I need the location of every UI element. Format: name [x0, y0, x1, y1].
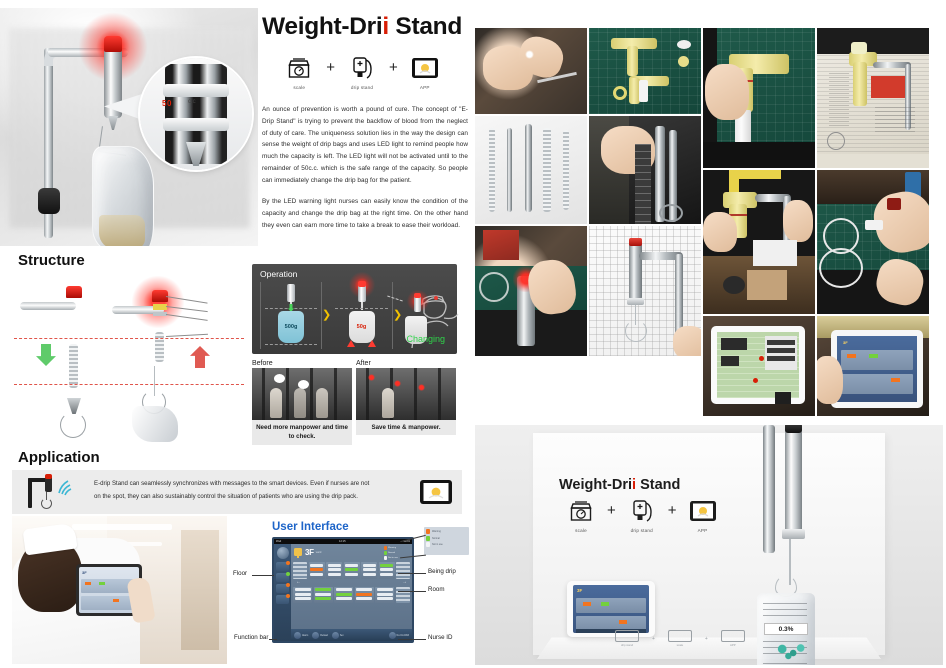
callout-legend-2: Not in use	[432, 543, 443, 546]
scale-icon-glyph	[569, 500, 593, 522]
before-photo	[252, 368, 352, 420]
scale-icon-glyph	[287, 57, 311, 79]
function-set[interactable]: Set	[332, 632, 344, 639]
structure-left-hook	[60, 412, 86, 438]
op3-led	[414, 293, 421, 298]
structure-pcb	[153, 304, 167, 310]
photo-title-prefix: Weight-Dri	[559, 477, 632, 493]
anno-function-bar: Function bar	[234, 634, 268, 641]
structure-left-spring	[69, 344, 78, 388]
photo-yellow-parts-cutmat	[589, 28, 701, 114]
function-reload[interactable]: Reload	[312, 632, 328, 639]
prototype-photo-grid: 3F	[475, 28, 943, 420]
room-card[interactable]	[361, 562, 377, 579]
photo-foot-icon-row: drip stand + scale + APP	[615, 630, 745, 647]
drip-bag-icon	[293, 547, 303, 558]
photo-weight-device	[785, 425, 802, 535]
drip-stand-icon-caption: drip stand	[342, 85, 382, 90]
before-after-section: Before Need more manpower and time to ch…	[252, 360, 457, 446]
after-photo	[356, 368, 456, 420]
ui-mockup: iPad 12:15 100%	[272, 537, 414, 643]
ui-legend-label-2: Not in use	[388, 557, 398, 559]
led-cap	[104, 36, 122, 52]
before-column: Before Need more manpower and time to ch…	[252, 360, 352, 446]
wireless-device-icon	[12, 470, 90, 514]
ui-legend-label-1: Normal	[388, 552, 395, 554]
anno-nurse-id: Nurse ID	[428, 634, 452, 641]
photo-plus-2: +	[668, 497, 677, 525]
ui-legend-inline: Warning Normal Not in use	[384, 546, 410, 561]
anno-leader-beingdrip	[398, 573, 426, 574]
concept-icon-dripstand: drip stand	[342, 54, 382, 90]
sidebar-item-floor-3f[interactable]	[276, 562, 289, 571]
ui-content: 3F ward Warning Normal Not in use	[291, 544, 412, 641]
scale-icon	[561, 497, 601, 525]
op2-drip-bag: 50g	[349, 311, 375, 343]
op2-arrow-up-right	[368, 340, 376, 347]
app-icon-glyph	[411, 57, 439, 79]
application-heading: Application	[18, 449, 100, 466]
concept-icon-scale: scale	[279, 54, 319, 90]
title-prefix: Weight-Dri	[262, 13, 382, 40]
photo-scale-caption: scale	[561, 528, 601, 533]
device-band-upper	[163, 84, 229, 97]
callout-legend-0: Warning	[432, 530, 441, 533]
sidebar-item-floor-5f[interactable]	[276, 584, 289, 593]
ui-pager[interactable]: ← →	[293, 579, 410, 586]
app-icon-glyph	[689, 500, 717, 522]
concept-icon-app: APP	[405, 54, 445, 90]
foot-plus-2: +	[705, 636, 708, 642]
drip-stand-icon-glyph	[631, 499, 653, 523]
app-icon	[683, 497, 723, 525]
ui-arrow-left[interactable]: ←	[296, 580, 301, 585]
drip-bag	[92, 146, 154, 246]
drip-stand-icon-glyph	[351, 56, 373, 80]
ui-sidebar[interactable]	[274, 544, 291, 641]
room-card[interactable]	[344, 562, 360, 579]
operation-step-2: 50g	[331, 282, 393, 349]
operation-heading: Operation	[260, 269, 297, 279]
nurse-id-value: No.01-0063	[397, 634, 410, 637]
anno-floor: Floor	[233, 570, 247, 577]
anno-leader-room	[398, 591, 426, 592]
nurse-id-badge[interactable]: No.01-0063	[389, 632, 410, 639]
ui-status-center: 12:15	[339, 540, 346, 543]
scale-icon	[279, 54, 319, 82]
foot-icon-dripstand: drip stand	[615, 630, 639, 647]
photo-nurse-with-tablet: 3F	[12, 516, 227, 664]
scale-icon-caption: scale	[279, 85, 319, 90]
photo-circuit-board-case	[703, 316, 815, 416]
room-card[interactable]	[293, 587, 312, 604]
op1-dashline-lower	[265, 344, 317, 345]
operation-steps: 500g ❯ 50g ❯	[260, 282, 451, 349]
pole-clamp	[38, 188, 60, 214]
ui-row-label-3	[396, 587, 410, 604]
title-block: Weight-Drii Stand scale +	[262, 14, 468, 240]
room-card[interactable]	[309, 562, 325, 579]
structure-switch	[153, 312, 167, 316]
poster-board: 50 c.c Weight-Drii Stand	[0, 0, 946, 668]
title-suffix: Stand	[389, 13, 462, 40]
photo-green-beads	[769, 641, 813, 661]
operation-step-3: Changing	[402, 282, 451, 349]
body-copy: An ounce of prevention is worth a pound …	[262, 104, 468, 231]
drip-stand-icon	[342, 54, 382, 82]
photo-prototype-on-newspaper	[817, 28, 929, 168]
anno-leader-function	[269, 639, 277, 640]
scale-marker-value: 50	[162, 99, 172, 108]
anno-being-drip: Being drip	[428, 568, 456, 575]
room-card[interactable]	[355, 587, 374, 604]
structure-drip-bag	[132, 406, 178, 442]
anno-leader-nurseid	[398, 639, 426, 640]
photo-scale-icon-item: scale	[561, 497, 601, 533]
application-banner: E-drip Stand can seamlessly synchronizes…	[12, 470, 462, 514]
drip-bag-fluid	[99, 215, 145, 246]
after-label: After	[356, 360, 456, 367]
avatar[interactable]	[277, 547, 289, 559]
sidebar-item-floor-4f[interactable]	[276, 573, 289, 582]
ui-status-left: iPad	[276, 540, 281, 543]
concept-icon-row: scale + drip stand +	[256, 54, 468, 90]
arrow-up-red	[190, 346, 210, 368]
before-label: Before	[252, 360, 352, 367]
photo-dripstand-icon-item: drip stand	[622, 497, 662, 533]
plus-sign-2: +	[389, 54, 398, 82]
op2-dashline	[335, 308, 388, 309]
photo-device-nut	[782, 529, 805, 539]
photo-tablet-app-in-hands: 3F	[817, 316, 929, 416]
left-column: 50 c.c Weight-Drii Stand	[0, 0, 470, 668]
operation-panel: Operation 500g ❯ 50g	[252, 264, 457, 354]
application-line-1: E-drip Stand can seamlessly synchronizes…	[94, 479, 400, 489]
after-column: After Save time & manpower.	[356, 360, 456, 446]
photo-plus-1: +	[607, 497, 616, 525]
room-card[interactable]	[375, 587, 394, 604]
photo-icon-row: scale + drip stand +	[561, 497, 723, 533]
photo-app-icon-item: APP	[683, 497, 723, 533]
sidebar-item-emergency[interactable]	[276, 595, 289, 604]
photo-measuring-tubes	[589, 116, 701, 224]
before-caption: Need more manpower and time to check.	[252, 420, 352, 445]
scale-marker-unit: c.c	[188, 99, 196, 105]
structure-heading: Structure	[18, 252, 85, 269]
user-interface-heading: User Interface	[272, 521, 349, 533]
structure-left-cap	[66, 286, 82, 298]
photo-dripstand-caption: drip stand	[622, 528, 662, 533]
ui-row-label-1	[293, 562, 307, 579]
page-title: Weight-Drii Stand	[262, 14, 468, 41]
photo-stand-pole	[763, 425, 775, 553]
app-icon-caption: APP	[405, 85, 445, 90]
structure-diagram: LED PCB Switch Spring	[14, 274, 244, 442]
photo-title: Weight-Drii Stand	[559, 477, 680, 493]
room-card[interactable]	[326, 562, 342, 579]
photo-device-cap	[785, 425, 802, 433]
room-card[interactable]	[379, 562, 395, 579]
structure-dashline-lower	[14, 384, 244, 385]
photo-springs-lineup	[475, 116, 587, 224]
operation-step-1: 500g	[260, 282, 322, 349]
plus-sign-1: +	[326, 54, 335, 82]
op1-device	[287, 284, 295, 302]
ui-room-row-2	[293, 587, 410, 604]
anno-leader-floor	[252, 575, 274, 576]
op2-led	[358, 281, 366, 287]
photo-title-suffix: Stand	[636, 477, 680, 493]
ui-row-label-2	[396, 562, 410, 579]
anno-room: Room	[428, 586, 445, 593]
magnifier-callout: 50 c.c	[140, 58, 252, 170]
photo-yellow-joint-on-stand	[703, 170, 815, 314]
foot-icon-scale: scale	[668, 630, 692, 647]
structure-dashline-upper	[14, 338, 244, 339]
tablet-app-icon	[410, 479, 462, 505]
function-alarm[interactable]: Alarm	[294, 632, 308, 639]
ui-legend-callout: Warning Normal Not in use	[424, 527, 469, 555]
op-chevron-1: ❯	[322, 310, 331, 321]
hero-product-render: 50 c.c	[0, 8, 258, 246]
photo-ipad-screen: 3F	[573, 585, 649, 633]
leader-spring	[166, 334, 208, 337]
photo-holding-yellow-prototype	[703, 28, 815, 168]
ui-room-row-1	[293, 562, 410, 579]
photo-bag-concentration: 0.3%	[764, 623, 808, 635]
ui-floor-sub: ward	[316, 551, 322, 554]
photo-final-device-gridpaper	[589, 226, 701, 356]
photo-app-caption: APP	[683, 528, 723, 533]
room-card[interactable]	[314, 587, 333, 604]
ui-main-area: 3F ward Warning Normal Not in use	[274, 544, 412, 641]
structure-right-spring	[155, 332, 164, 362]
photo-soldering-led	[475, 28, 587, 114]
body-paragraph-2: By the LED warning light nurses can easi…	[262, 196, 468, 232]
op-chevron-2: ❯	[393, 310, 402, 321]
op2-arrow-up-left	[347, 340, 355, 347]
app-icon	[405, 54, 445, 82]
ui-legend-label-0: Warning	[388, 547, 396, 549]
device-band-lower	[163, 118, 229, 131]
body-paragraph-1: An ounce of prevention is worth a pound …	[262, 104, 468, 187]
after-caption: Save time & manpower.	[356, 420, 456, 435]
arrow-down-green	[36, 344, 56, 366]
application-line-2: on the spot, they can also sustainably c…	[94, 492, 400, 502]
callout-legend-1: Normal	[432, 537, 440, 540]
photo-assembling-electronics	[817, 170, 929, 314]
wifi-waves-icon	[56, 476, 76, 496]
drip-stand-icon	[622, 497, 662, 525]
tablet-icon-glyph	[419, 479, 453, 505]
product-presentation-photo: Weight-Drii Stand scale +	[475, 425, 943, 665]
ui-function-bar[interactable]: Alarm Reload Set No.01-0063	[291, 629, 412, 641]
ui-arrow-right[interactable]: →	[402, 580, 407, 585]
application-banner-text: E-drip Stand can seamlessly synchronizes…	[90, 479, 410, 506]
op3-device	[414, 296, 421, 312]
foot-icon-app: APP	[721, 630, 745, 647]
photo-red-led-lit-tube	[475, 226, 587, 356]
op1-drip-bag: 500g	[278, 311, 304, 343]
room-card[interactable]	[334, 587, 353, 604]
operation-status-text: Changing	[406, 334, 445, 344]
ui-floor-value: 3F	[305, 548, 314, 557]
foot-plus-1: +	[652, 636, 655, 642]
photo-ipad: 3F	[567, 581, 655, 637]
